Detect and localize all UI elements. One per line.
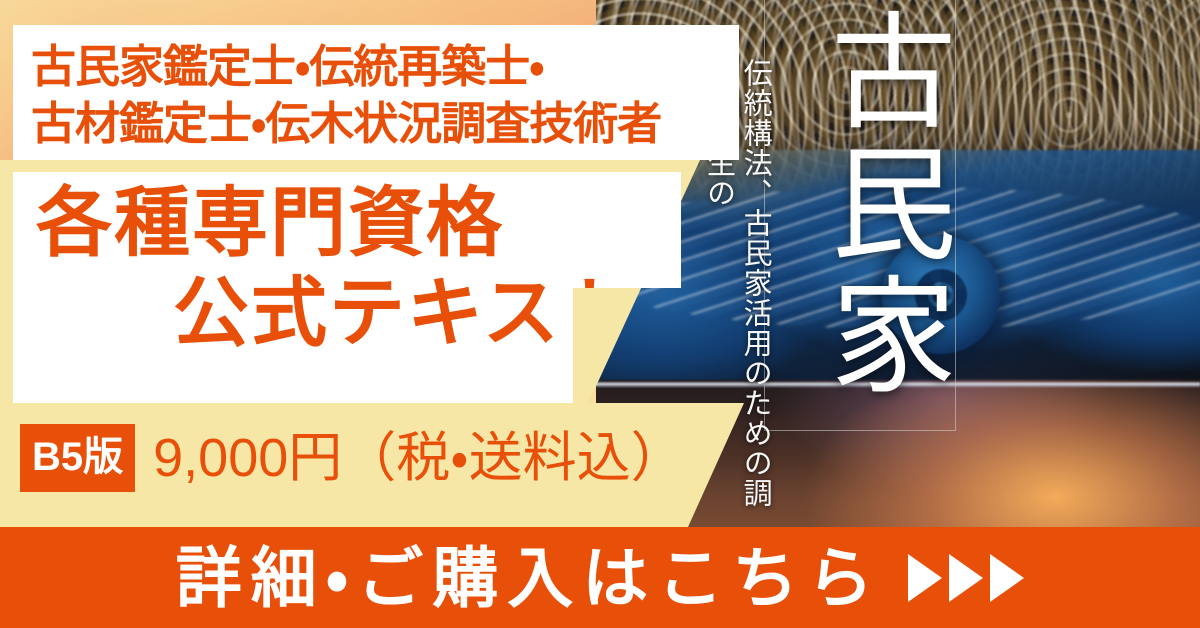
size-badge: B5版 <box>20 424 135 492</box>
triangle-right-icon <box>990 554 1024 602</box>
cta-arrows <box>908 554 1024 602</box>
price-row: B5版 9,000円（税・送料込） <box>20 424 685 492</box>
price-text: 9,000円（税・送料込） <box>153 431 685 485</box>
triangle-right-icon <box>908 554 942 602</box>
title-line-1: 各種専門資格 <box>36 186 504 262</box>
promotional-banner: 伝統構法、古民家活用のための調査と再生の 古民家 古民家鑑定士・伝統再築士・ 古… <box>0 0 1200 628</box>
title-line-2: 公式テキスト <box>173 276 639 352</box>
book-cover-title: 古民家 <box>806 6 955 402</box>
triangle-right-icon <box>949 554 983 602</box>
qualifications-text: 古民家鑑定士・伝統再築士・ 古材鑑定士・伝木状況調査技術者 <box>31 39 661 152</box>
cta-label: 詳細・ご購入はこちら <box>176 545 882 611</box>
qualifications-panel: 古民家鑑定士・伝統再築士・ 古材鑑定士・伝木状況調査技術者 <box>13 25 739 160</box>
cta-bar[interactable]: 詳細・ご購入はこちら <box>0 527 1200 628</box>
